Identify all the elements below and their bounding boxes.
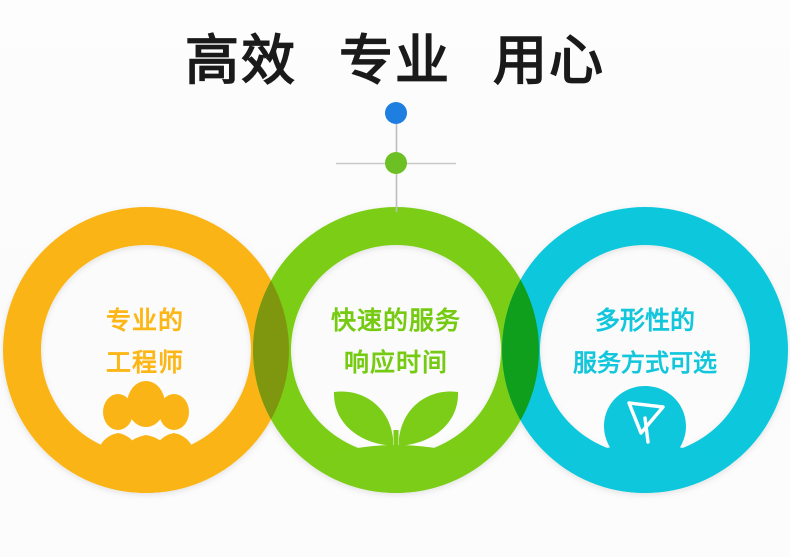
caption-line-1: 多形性的 bbox=[537, 300, 753, 342]
circle-caption-engineers: 专业的 工程师 bbox=[37, 300, 253, 384]
caption-line-2: 服务方式可选 bbox=[537, 342, 753, 384]
infographic-canvas: 高效专业用心 bbox=[0, 0, 790, 557]
caption-line-2: 响应时间 bbox=[288, 342, 504, 384]
caption-line-1: 快速的服务 bbox=[288, 300, 504, 342]
circle-caption-service-modes: 多形性的 服务方式可选 bbox=[537, 300, 753, 384]
caption-line-2: 工程师 bbox=[37, 342, 253, 384]
circle-caption-response: 快速的服务 响应时间 bbox=[288, 300, 504, 384]
venn-rings-group bbox=[0, 0, 790, 557]
caption-line-1: 专业的 bbox=[37, 300, 253, 342]
